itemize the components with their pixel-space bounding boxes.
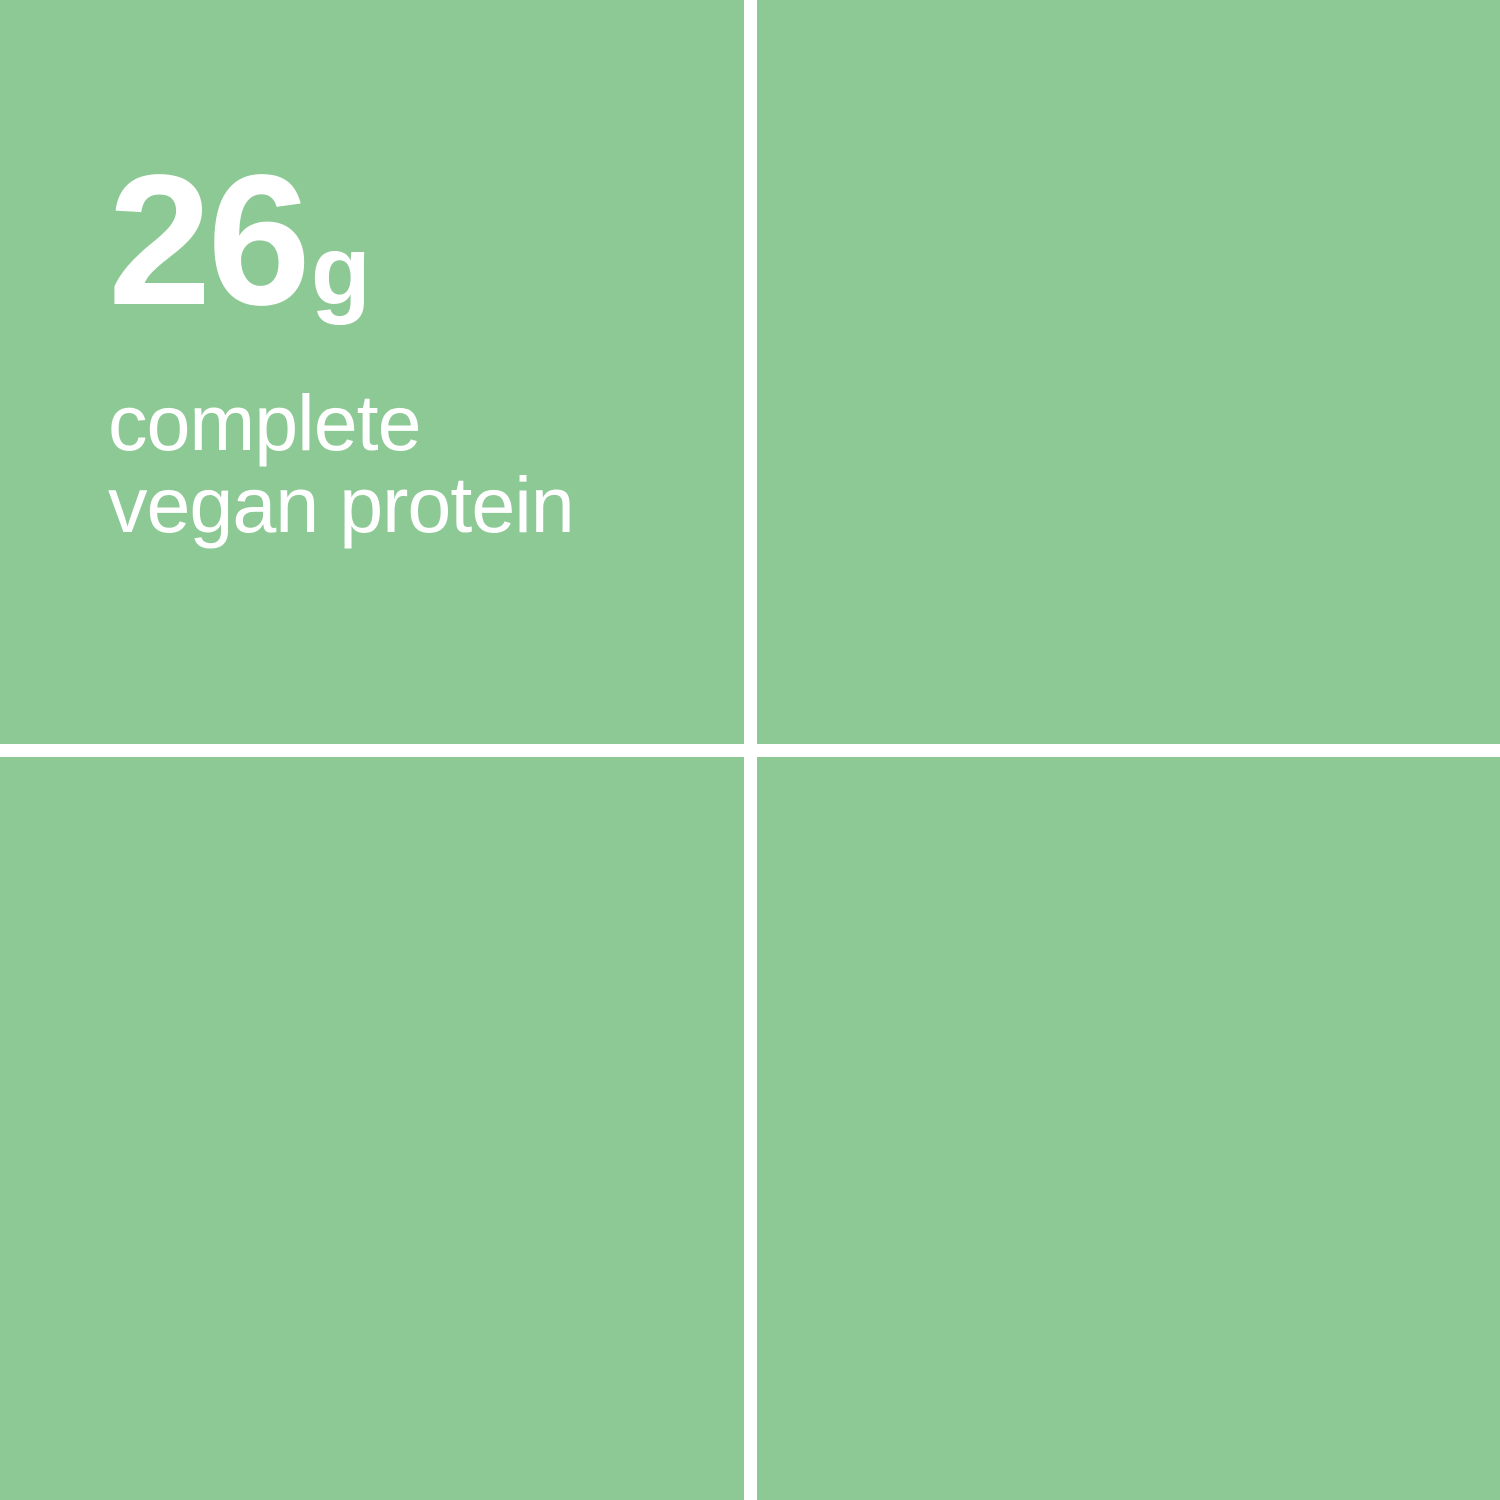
prebiotics-panel: prebiotics to support optimal gut health (757, 0, 1500, 744)
infographic-canvas: 26 g complete vegan protein (0, 0, 1500, 1500)
protein-caption-line-2: vegan protein (108, 460, 574, 549)
protein-caption-line-1: complete (108, 378, 421, 467)
protein-unit: g (311, 232, 369, 308)
taste-panel: mixes well & tastes great with no bad af… (0, 757, 744, 1500)
protein-panel: 26 g complete vegan protein (0, 0, 744, 744)
protein-amount: 26 (108, 168, 307, 313)
protein-caption: complete vegan protein (108, 382, 574, 546)
claims-panel: NON-GMO GLUTEN FREE SOY FREE DAIRY FREE … (757, 757, 1500, 1500)
protein-stat: 26 g (108, 168, 369, 313)
